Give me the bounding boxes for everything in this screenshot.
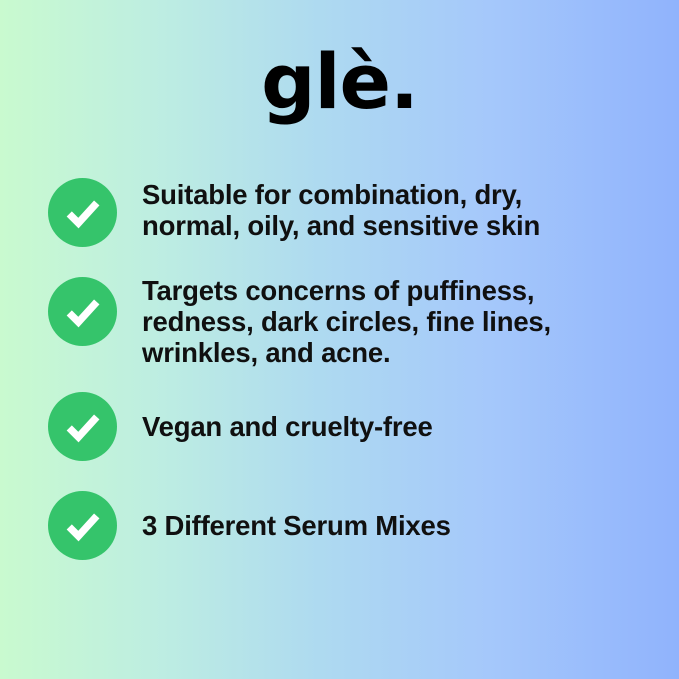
- feature-label: Vegan and cruelty-free: [117, 412, 648, 443]
- feature-label: Targets concerns of puffiness, redness, …: [117, 276, 648, 368]
- check-circle-icon: [48, 277, 117, 346]
- list-item: 3 Different Serum Mixes: [48, 491, 648, 560]
- check-circle-icon: [48, 392, 117, 461]
- brand-logo: glè.: [0, 44, 679, 120]
- feature-label: Suitable for combination, dry, normal, o…: [117, 180, 648, 242]
- check-circle-icon: [48, 491, 117, 560]
- list-item: Suitable for combination, dry, normal, o…: [48, 178, 648, 247]
- product-feature-poster: glè. Suitable for combination, dry, norm…: [0, 0, 679, 679]
- check-circle-icon: [48, 178, 117, 247]
- feature-list: Suitable for combination, dry, normal, o…: [48, 178, 648, 560]
- feature-label: 3 Different Serum Mixes: [117, 511, 648, 542]
- list-item: Vegan and cruelty-free: [48, 392, 648, 461]
- list-item: Targets concerns of puffiness, redness, …: [48, 277, 648, 368]
